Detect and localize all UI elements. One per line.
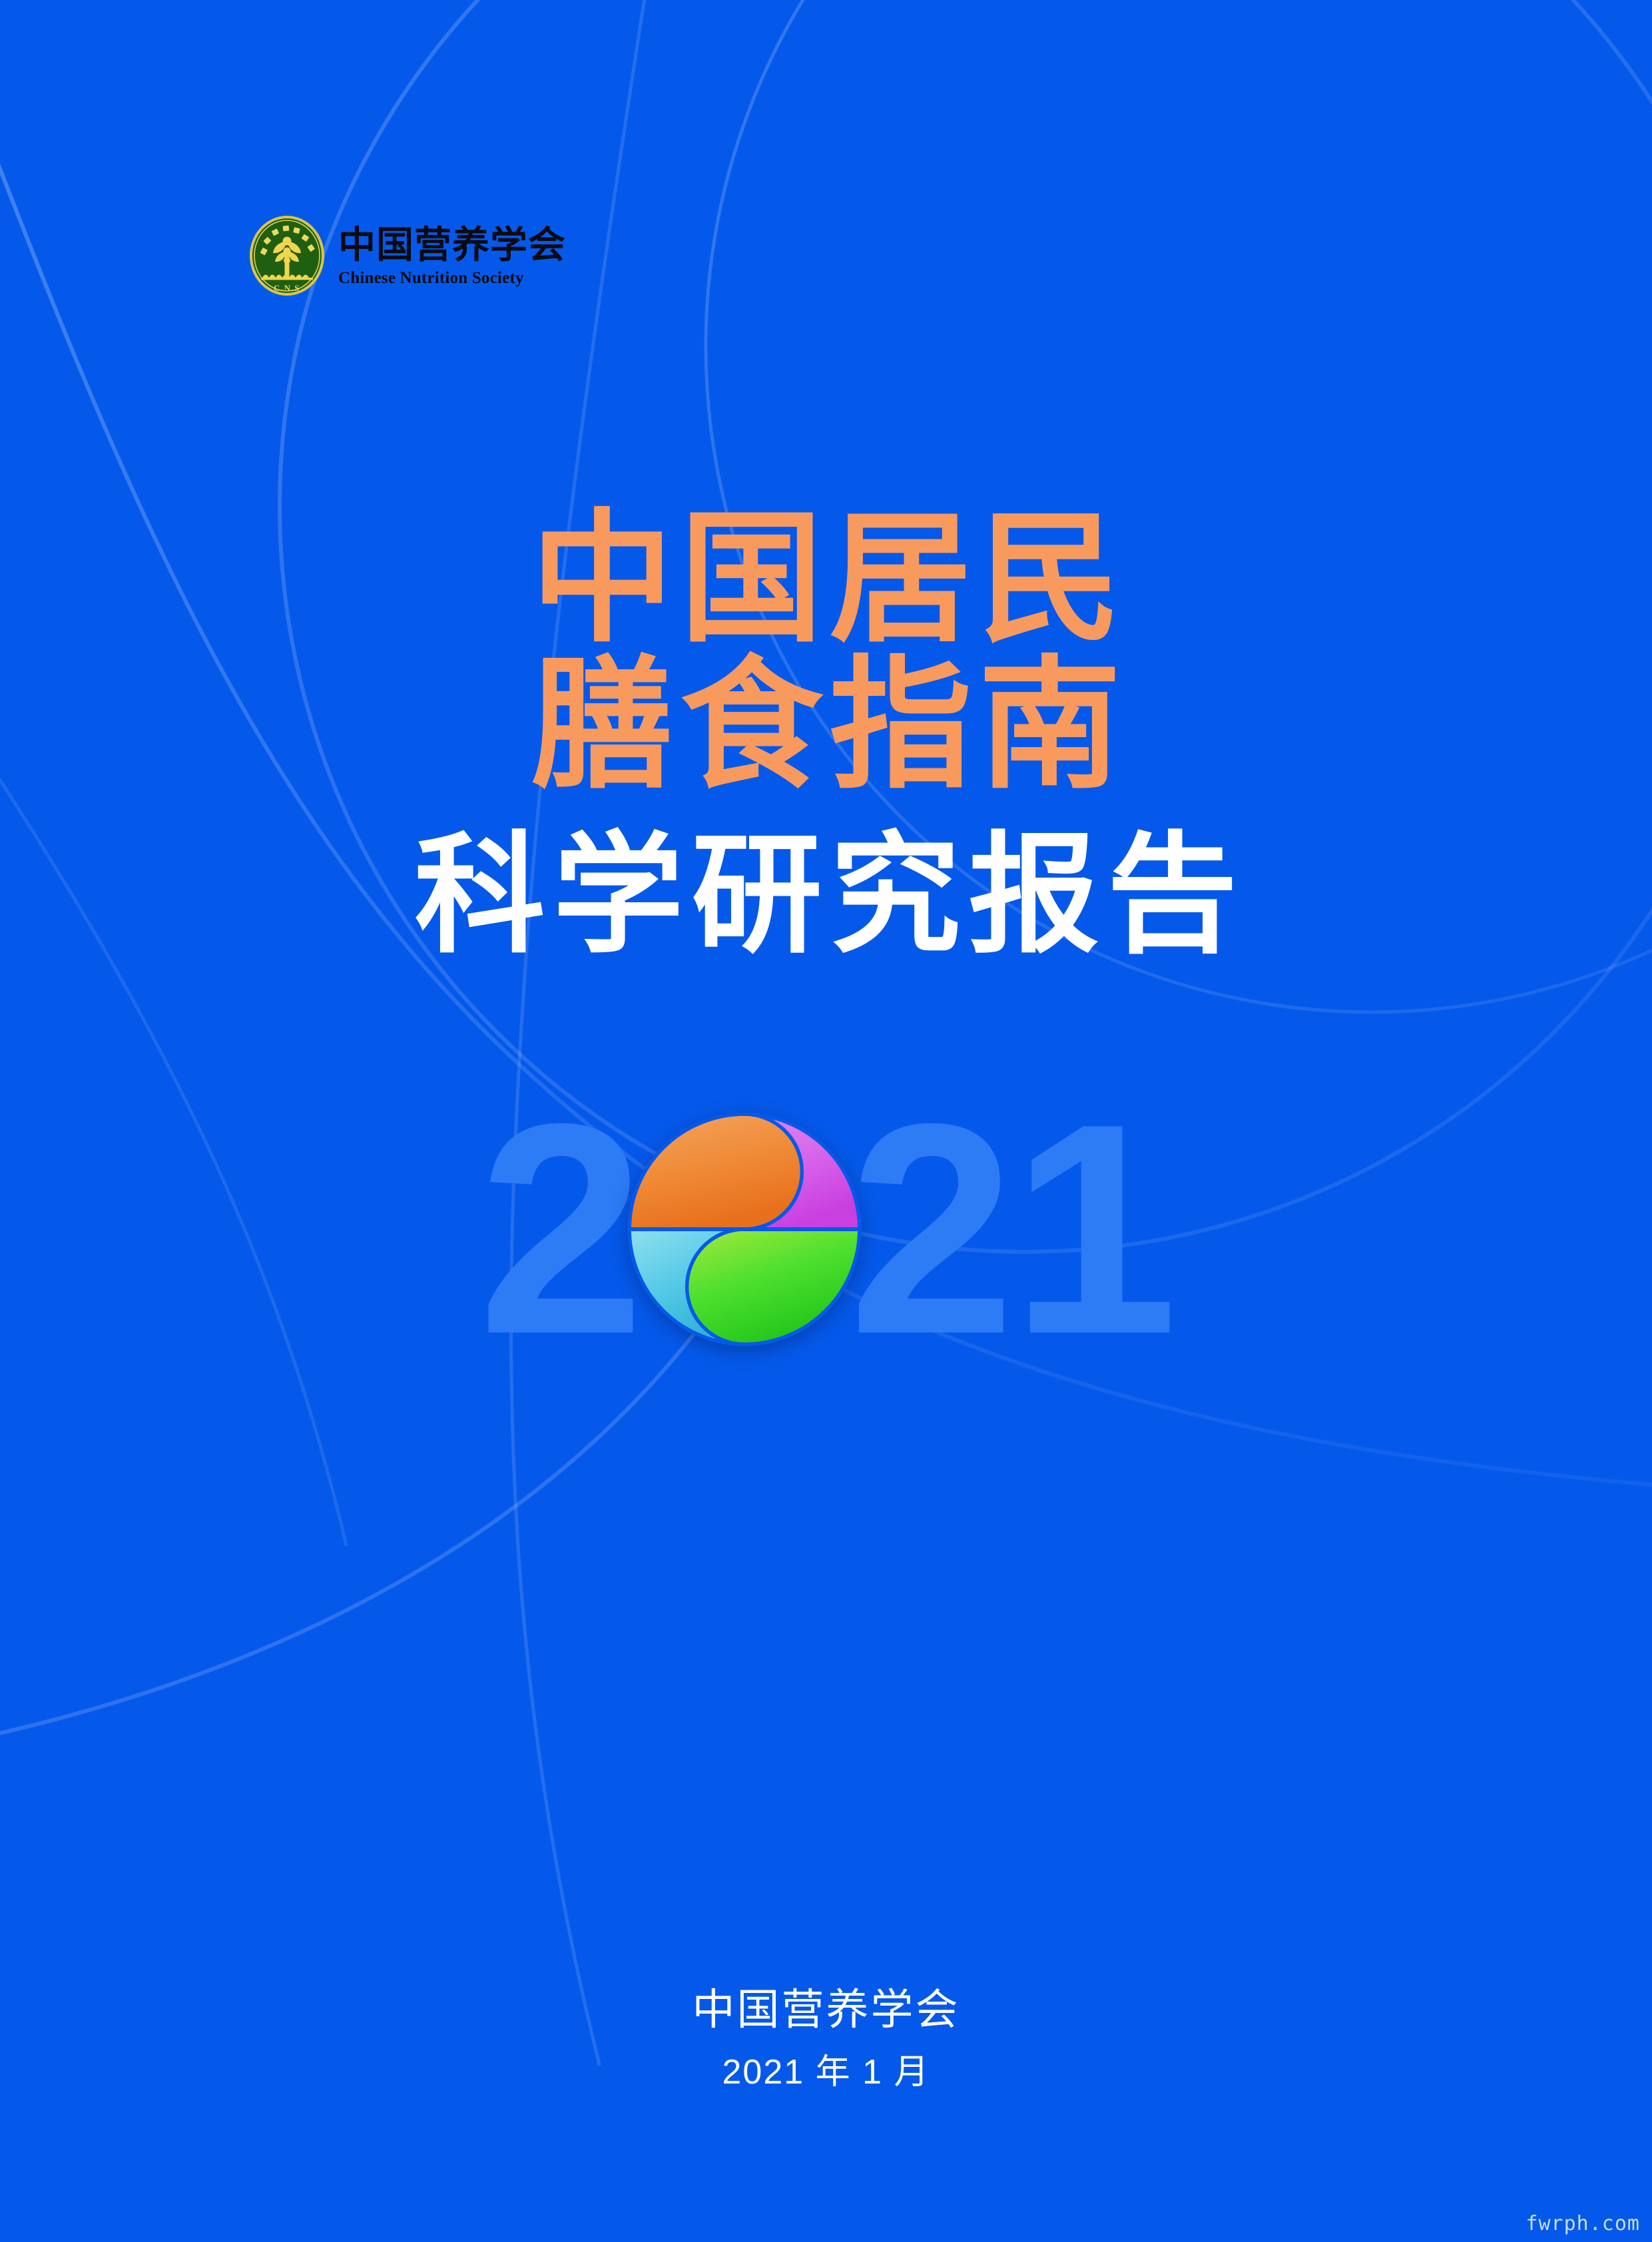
cover-footer: 中国营养学会 2021 年 1 月 bbox=[0, 1983, 1652, 2094]
year-digit-2-slot bbox=[641, 1103, 848, 1356]
year-digit-1: 2 bbox=[478, 1079, 641, 1379]
title-line-1: 中国居民 bbox=[0, 506, 1652, 653]
year-digits: 2 bbox=[478, 1079, 1174, 1379]
site-watermark: fwrph.com bbox=[1525, 2212, 1640, 2235]
year-digit-4: 1 bbox=[1011, 1079, 1174, 1379]
svg-text:C.N.S: C.N.S bbox=[274, 283, 300, 293]
logo-text-block: 中国营养学会 Chinese Nutrition Society bbox=[338, 223, 566, 288]
year-graphic: 2 bbox=[0, 1063, 1652, 1396]
cover-page: C.N.S 中国营养学会 Chinese Nutrition Society 中… bbox=[0, 0, 1652, 2242]
logo-name-cn: 中国营养学会 bbox=[338, 226, 566, 264]
footer-organization: 中国营养学会 bbox=[0, 1983, 1652, 2036]
cover-title-block: 中国居民 膳食指南 科学研究报告 bbox=[0, 506, 1652, 968]
title-line-3: 科学研究报告 bbox=[0, 822, 1652, 969]
year-digit-3: 2 bbox=[848, 1079, 1011, 1379]
title-line-2: 膳食指南 bbox=[0, 653, 1652, 799]
footer-date: 2021 年 1 月 bbox=[0, 2051, 1652, 2094]
organization-logo: C.N.S 中国营养学会 Chinese Nutrition Society bbox=[248, 214, 566, 297]
food-guide-circle-icon bbox=[625, 1109, 864, 1349]
cns-emblem-icon: C.N.S bbox=[248, 214, 326, 297]
logo-name-en: Chinese Nutrition Society bbox=[338, 268, 566, 288]
